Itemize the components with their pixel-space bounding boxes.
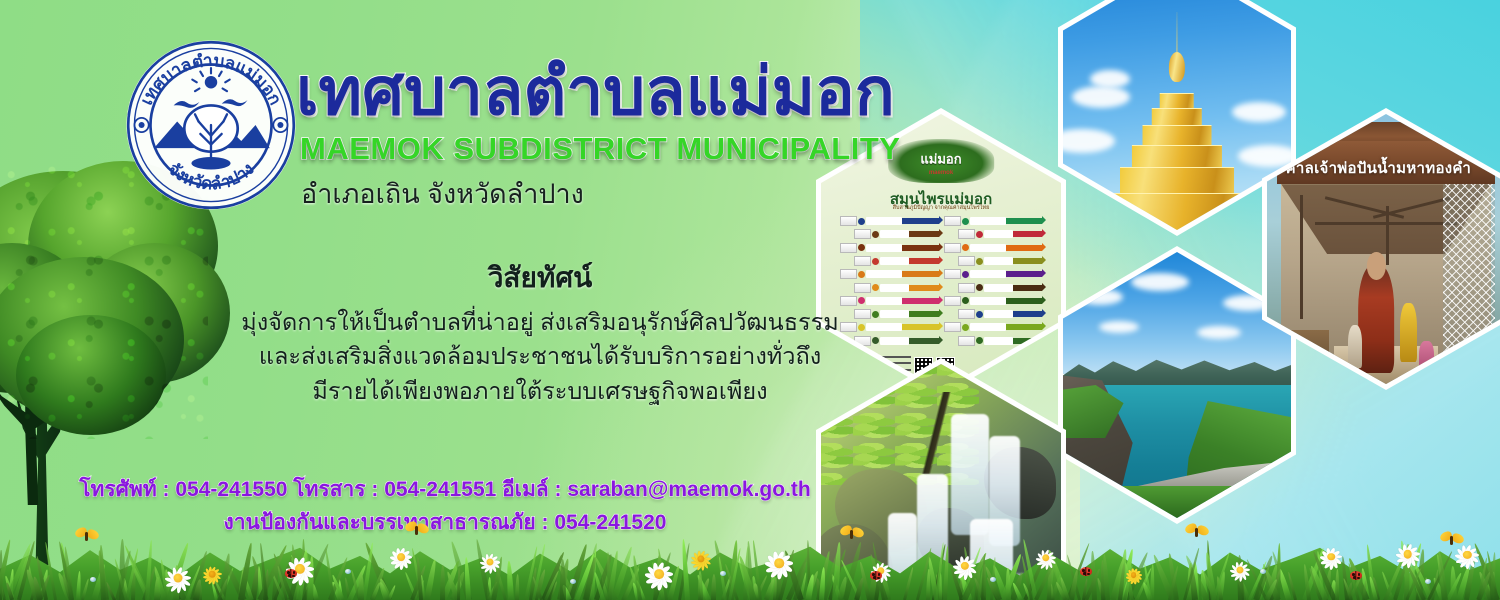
product-badge-icon [962, 324, 969, 331]
product-label [866, 297, 902, 305]
product-badge-icon [976, 258, 983, 265]
product-color-bar [909, 311, 938, 317]
product-label [984, 310, 1013, 318]
product-color-bar [909, 338, 938, 344]
product-image [840, 243, 857, 253]
vision-heading: วิสัยทัศน์ [210, 256, 870, 300]
statue-head [1367, 252, 1386, 280]
product-badge-icon [872, 231, 879, 238]
product-color-bar [909, 231, 938, 237]
product-arrow-icon [939, 283, 943, 291]
product-color-bar [1013, 311, 1042, 317]
product-label [880, 257, 909, 265]
product-badge-icon [872, 337, 879, 344]
social-icon [874, 367, 879, 372]
product-color-bar [1006, 298, 1042, 304]
product-badge-icon [872, 258, 879, 265]
product-image [958, 336, 975, 346]
herbal-logo-badge: แม่มอก maemok [888, 139, 994, 183]
product-arrow-icon [939, 269, 943, 277]
social-icon [874, 361, 879, 366]
contact-block: โทรศัพท์ : 054-241550 โทรสาร : 054-24155… [50, 474, 840, 539]
page-title: เทศบาลตำบลแม่มอก [296, 58, 895, 125]
shrine-statue [1359, 265, 1395, 373]
product-badge-icon [872, 311, 879, 318]
product-image [944, 322, 961, 332]
herbal-product-item [944, 296, 1042, 306]
pagoda-tier [1160, 93, 1194, 108]
product-image [854, 229, 871, 239]
social-icon [874, 374, 879, 379]
product-image [944, 216, 961, 226]
seal-svg: เทศบาลตำบลแม่มอก จังหวัดลำปาง [122, 36, 300, 214]
page-subtitle: อำเภอเถิน จังหวัดลำปาง [301, 172, 584, 215]
herbal-logo-text: แม่มอก [920, 149, 961, 170]
product-image [958, 283, 975, 293]
product-color-bar [902, 324, 938, 330]
product-color-bar [1006, 271, 1042, 277]
waterfall-pool [840, 574, 1046, 600]
product-label [970, 323, 1006, 331]
product-image [840, 216, 857, 226]
herbal-product-item [840, 216, 938, 226]
vision-line: และส่งเสริมสิ่งแวดล้อมประชาชนได้รับบริกา… [210, 339, 870, 373]
waterfall-stream [951, 414, 989, 535]
herbal-product-item [854, 229, 938, 239]
pagoda-tier [1120, 167, 1234, 193]
product-label [984, 257, 1013, 265]
product-color-bar [902, 271, 938, 277]
product-label [984, 230, 1013, 238]
product-image [958, 256, 975, 266]
product-label [880, 284, 909, 292]
product-color-bar [902, 298, 938, 304]
product-label [970, 270, 1006, 278]
product-image [958, 229, 975, 239]
municipality-seal[interactable]: เทศบาลตำบลแม่มอก จังหวัดลำปาง [122, 36, 300, 214]
product-color-bar [1006, 324, 1042, 330]
product-image [944, 269, 961, 279]
contact-line-emergency[interactable]: งานป้องกันและบรรเทาสาธารณภัย : 054-24152… [50, 507, 840, 540]
product-color-bar [1013, 285, 1042, 291]
herbal-product-column [944, 216, 1042, 346]
golden-pagoda [1111, 12, 1243, 230]
pagoda-tier [1152, 108, 1202, 125]
herbal-poster-subtitle: สืบสานภูมิปัญญา จากคุณค่าสมุนไพรไทย [821, 204, 1061, 212]
product-label [866, 244, 902, 252]
product-arrow-icon [1042, 296, 1046, 304]
product-color-bar [909, 285, 938, 291]
hex-golden-pagoda[interactable]: วัดพ บ้านกุ่ อำเภ [1063, 0, 1291, 230]
product-image [958, 309, 975, 319]
herbal-product-grid [840, 216, 1042, 346]
product-badge-icon [858, 218, 865, 225]
pagoda-tier [1132, 145, 1222, 167]
grass-foreground [1063, 486, 1291, 518]
product-label [866, 270, 902, 278]
hex-reservoir-dam[interactable] [1063, 252, 1291, 518]
product-label [866, 217, 902, 225]
herbal-product-item [958, 229, 1042, 239]
product-label [880, 310, 909, 318]
pagoda-label-sub1: บ้านกุ่ [1263, 0, 1285, 6]
product-badge-icon [962, 297, 969, 304]
shrine-offering [1348, 325, 1362, 368]
pagoda-tier [1143, 125, 1212, 145]
product-badge-icon [976, 311, 983, 318]
contact-line-primary[interactable]: โทรศัพท์ : 054-241550 โทรสาร : 054-24155… [50, 474, 840, 507]
page-title-english: MAEMOK SUBDISTRICT MUNICIPALITY [300, 131, 900, 167]
herbal-product-item [944, 243, 1042, 253]
vision-line: มีรายได้เพียงพอภายใต้ระบบเศรษฐกิจพอเพียง [210, 374, 870, 408]
product-color-bar [1013, 231, 1042, 237]
pagoda-bell [1169, 52, 1185, 82]
product-color-bar [1013, 258, 1042, 264]
shrine-sign-board [1277, 141, 1496, 184]
shrine-mesh-screen [1443, 163, 1495, 352]
sky-background [1063, 252, 1291, 374]
product-arrow-icon [939, 243, 943, 251]
product-badge-icon [962, 244, 969, 251]
shrine-offering [1400, 303, 1417, 362]
product-arrow-icon [939, 296, 943, 304]
product-label [970, 244, 1006, 252]
shrine-beam [1315, 222, 1458, 225]
product-arrow-icon [1042, 229, 1046, 237]
product-arrow-icon [939, 322, 943, 330]
waterfall-stream [917, 474, 948, 584]
herbal-product-item [944, 216, 1042, 226]
product-badge-icon [962, 218, 969, 225]
pagoda-base [1111, 193, 1243, 230]
product-badge-icon [976, 231, 983, 238]
vision-block: วิสัยทัศน์ มุ่งจัดการให้เป็นตำบลที่น่าอย… [210, 256, 870, 408]
product-badge-icon [976, 337, 983, 344]
product-arrow-icon [1042, 309, 1046, 317]
herbal-product-item [944, 269, 1042, 279]
product-label [880, 337, 909, 345]
herbal-product-item [958, 309, 1042, 319]
product-label [880, 230, 909, 238]
product-badge-icon [962, 271, 969, 278]
product-label [984, 284, 1013, 292]
herbal-product-item [958, 283, 1042, 293]
product-arrow-icon [1042, 216, 1046, 224]
cloud-icon [1238, 145, 1291, 167]
municipality-banner: แม่มอก maemok สมุนไพรแม่มอก สืบสานภูมิปั… [0, 0, 1500, 600]
product-arrow-icon [939, 216, 943, 224]
product-label [970, 217, 1006, 225]
product-badge-icon [872, 284, 879, 291]
product-color-bar [909, 258, 938, 264]
product-color-bar [902, 245, 938, 251]
product-badge-icon [976, 284, 983, 291]
product-arrow-icon [1042, 256, 1046, 264]
product-image [944, 296, 961, 306]
product-arrow-icon [939, 309, 943, 317]
shrine-beam [1300, 195, 1303, 319]
product-label [970, 297, 1006, 305]
product-arrow-icon [1042, 322, 1046, 330]
product-arrow-icon [939, 229, 943, 237]
vision-line: มุ่งจัดการให้เป็นตำบลที่น่าอยู่ ส่งเสริม… [210, 305, 870, 339]
social-label [881, 356, 911, 358]
product-arrow-icon [1042, 283, 1046, 291]
product-badge-icon [858, 244, 865, 251]
product-label [866, 323, 902, 331]
product-color-bar [902, 218, 938, 224]
product-color-bar [1006, 218, 1042, 224]
herbal-product-item [958, 256, 1042, 266]
product-label [984, 337, 1013, 345]
product-arrow-icon [1042, 269, 1046, 277]
product-arrow-icon [1042, 243, 1046, 251]
herbal-product-item [840, 243, 938, 253]
product-image [944, 243, 961, 253]
product-arrow-icon [939, 256, 943, 264]
herbal-product-item [944, 322, 1042, 332]
herbal-logo-subtext: maemok [929, 170, 953, 176]
product-arrow-icon [939, 336, 943, 344]
product-color-bar [1006, 245, 1042, 251]
